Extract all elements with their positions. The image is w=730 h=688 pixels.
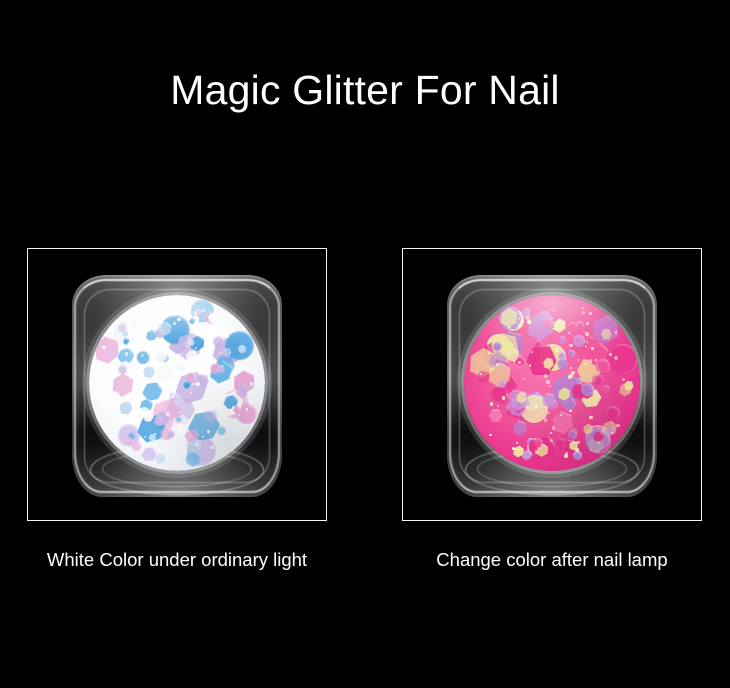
glitter-speck (249, 399, 252, 402)
glitter-speck (531, 351, 533, 353)
glitter-speck (582, 307, 585, 310)
glitter-speck (238, 414, 240, 416)
glitter-speck (173, 392, 176, 395)
glitter-speck (589, 359, 593, 363)
glitter-speck (220, 352, 222, 354)
glitter-speck (575, 448, 579, 452)
glitter-speck (555, 365, 557, 367)
glitter-speck (496, 363, 499, 366)
caption-ordinary-light: White Color under ordinary light (27, 548, 327, 572)
glitter-speck (558, 319, 561, 322)
glitter-speck (135, 374, 137, 376)
glitter-speck (202, 436, 204, 438)
glitter-speck (518, 361, 521, 364)
glitter-speck (102, 346, 105, 349)
glitter-speck (132, 361, 134, 363)
glitter-speck (609, 353, 611, 355)
glitter-speck (166, 412, 170, 416)
product-panel-after-nail-lamp (402, 248, 702, 521)
glitter-speck (129, 348, 131, 350)
glitter-jar-ordinary-light (68, 269, 286, 501)
glitter-speck (193, 311, 197, 315)
product-photo-frame-after-nail-lamp (402, 248, 702, 521)
glitter-speck (190, 392, 192, 394)
glitter-flake (207, 404, 215, 412)
glitter-speck (195, 443, 199, 447)
glitter-speck (591, 347, 594, 350)
glitter-speck (247, 391, 251, 395)
glitter-well-white (89, 295, 265, 471)
glitter-speck (230, 410, 234, 414)
glitter-speck (526, 316, 529, 319)
glitter-speck (589, 416, 593, 420)
glitter-speck (135, 392, 137, 394)
glitter-speck (555, 348, 559, 352)
glitter-speck (223, 415, 225, 417)
product-infographic-page: { "page": { "title": "Magic Glitter For … (0, 0, 730, 688)
glitter-speck (130, 369, 132, 371)
glitter-speck (527, 320, 531, 324)
glitter-speck (202, 309, 205, 312)
glitter-speck (250, 382, 253, 385)
product-panel-ordinary-light (27, 248, 327, 521)
glitter-speck (489, 434, 491, 436)
glitter-speck (589, 312, 592, 315)
glitter-speck (215, 326, 219, 330)
caption-after-nail-lamp: Change color after nail lamp (402, 548, 702, 572)
glitter-speck (622, 378, 625, 381)
glitter-speck (565, 452, 568, 455)
glitter-well-pink (464, 295, 640, 471)
glitter-jar-after-nail-lamp (443, 269, 661, 501)
glitter-speck (490, 402, 493, 405)
glitter-speck (173, 314, 175, 316)
product-photo-frame-ordinary-light (27, 248, 327, 521)
glitter-speck (100, 380, 102, 382)
glitter-speck (544, 406, 546, 408)
glitter-speck (569, 410, 572, 413)
glitter-speck (512, 447, 515, 450)
glitter-flake (576, 321, 584, 329)
glitter-speck (210, 332, 212, 334)
glitter-speck (221, 436, 224, 439)
glitter-speck (140, 329, 144, 333)
page-title: Magic Glitter For Nail (0, 66, 730, 114)
glitter-speck (614, 356, 618, 360)
glitter-speck (195, 347, 197, 349)
glitter-speck (526, 406, 529, 409)
glitter-speck (171, 395, 175, 399)
glitter-speck (225, 334, 229, 338)
glitter-speck (535, 450, 539, 454)
glitter-speck (179, 411, 181, 413)
glitter-speck (200, 407, 204, 411)
glitter-speck (549, 369, 551, 371)
glitter-speck (544, 374, 548, 378)
glitter-speck (125, 352, 129, 356)
glitter-speck (173, 322, 176, 325)
glitter-speck (196, 382, 200, 386)
glitter-speck (585, 332, 589, 336)
glitter-speck (502, 396, 506, 400)
